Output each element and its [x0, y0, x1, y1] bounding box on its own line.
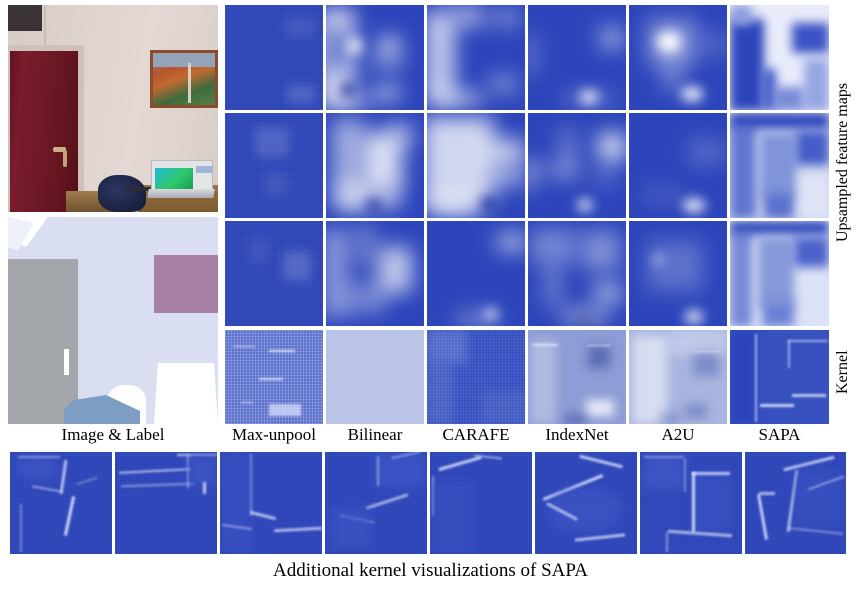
photo-laptop-keyboard — [147, 189, 215, 198]
image-and-label-column — [8, 5, 218, 430]
cell-sapa-row1 — [730, 5, 829, 110]
cell-carafe-row1 — [427, 5, 525, 110]
column-label-a2u: A2U — [629, 424, 727, 446]
sapa-kernel-tile-5 — [430, 452, 532, 554]
cell-carafe-row3 — [427, 221, 525, 326]
figure-root: Image & Label — [0, 0, 861, 595]
label-desk-region — [154, 363, 218, 424]
sapa-kernel-tile-6 — [535, 452, 637, 554]
sapa-kernel-tile-8 — [745, 452, 846, 554]
column-label-max-unpool: Max-unpool — [225, 424, 323, 446]
photo-painting-sky — [153, 53, 215, 67]
cell-indexnet-row3 — [528, 221, 626, 326]
cell-indexnet-row2 — [528, 113, 626, 218]
photo-ceiling-corner — [8, 5, 42, 31]
left-panel-label: Image & Label — [8, 424, 218, 446]
cell-a2u-kernel — [629, 330, 727, 424]
cell-bilinear-row1 — [326, 5, 424, 110]
row-group-label-kernel: Kernel — [834, 325, 852, 419]
cell-a2u-row2 — [629, 113, 727, 218]
cell-sapa-row3 — [730, 221, 829, 326]
additional-sapa-kernel-strip — [10, 452, 846, 554]
cell-maxunpool-kernel — [225, 330, 323, 424]
label-door-region — [8, 259, 78, 424]
cell-sapa-row2 — [730, 113, 829, 218]
cell-bilinear-row2 — [326, 113, 424, 218]
cell-bilinear-kernel — [326, 330, 424, 424]
sapa-kernel-tile-2 — [115, 452, 217, 554]
feature-map-grid — [225, 5, 829, 419]
label-door-handle-region — [64, 349, 69, 375]
column-label-carafe: CARAFE — [427, 424, 525, 446]
photo-door-handle-plate — [63, 150, 67, 167]
ground-truth-label-map — [8, 217, 218, 424]
input-image-photo — [8, 5, 218, 212]
row-group-label-upsampled-feature-maps: Upsampled feature maps — [834, 5, 852, 320]
photo-painting-tree — [188, 63, 191, 103]
label-painting-region — [154, 255, 218, 313]
cell-a2u-row3 — [629, 221, 727, 326]
figure-caption: Additional kernel visualizations of SAPA — [0, 560, 861, 582]
cell-indexnet-kernel — [528, 330, 626, 424]
cell-indexnet-row1 — [528, 5, 626, 110]
sapa-kernel-tile-1 — [10, 452, 112, 554]
cell-maxunpool-row2 — [225, 113, 323, 218]
cell-bilinear-row3 — [326, 221, 424, 326]
cell-sapa-kernel — [730, 330, 829, 424]
sapa-kernel-tile-3 — [220, 452, 322, 554]
column-label-bilinear: Bilinear — [326, 424, 424, 446]
column-label-indexnet: IndexNet — [528, 424, 626, 446]
cell-maxunpool-row3 — [225, 221, 323, 326]
sapa-kernel-tile-7 — [640, 452, 742, 554]
cell-a2u-row1 — [629, 5, 727, 110]
sapa-kernel-tile-4 — [325, 452, 427, 554]
cell-carafe-row2 — [427, 113, 525, 218]
photo-door — [10, 51, 78, 212]
photo-laptop-toolbar — [196, 166, 212, 173]
photo-jacket — [98, 175, 146, 212]
column-label-sapa: SAPA — [730, 424, 829, 446]
photo-laptop-screen-content — [155, 168, 193, 189]
cell-maxunpool-row1 — [225, 5, 323, 110]
cell-carafe-kernel — [427, 330, 525, 424]
